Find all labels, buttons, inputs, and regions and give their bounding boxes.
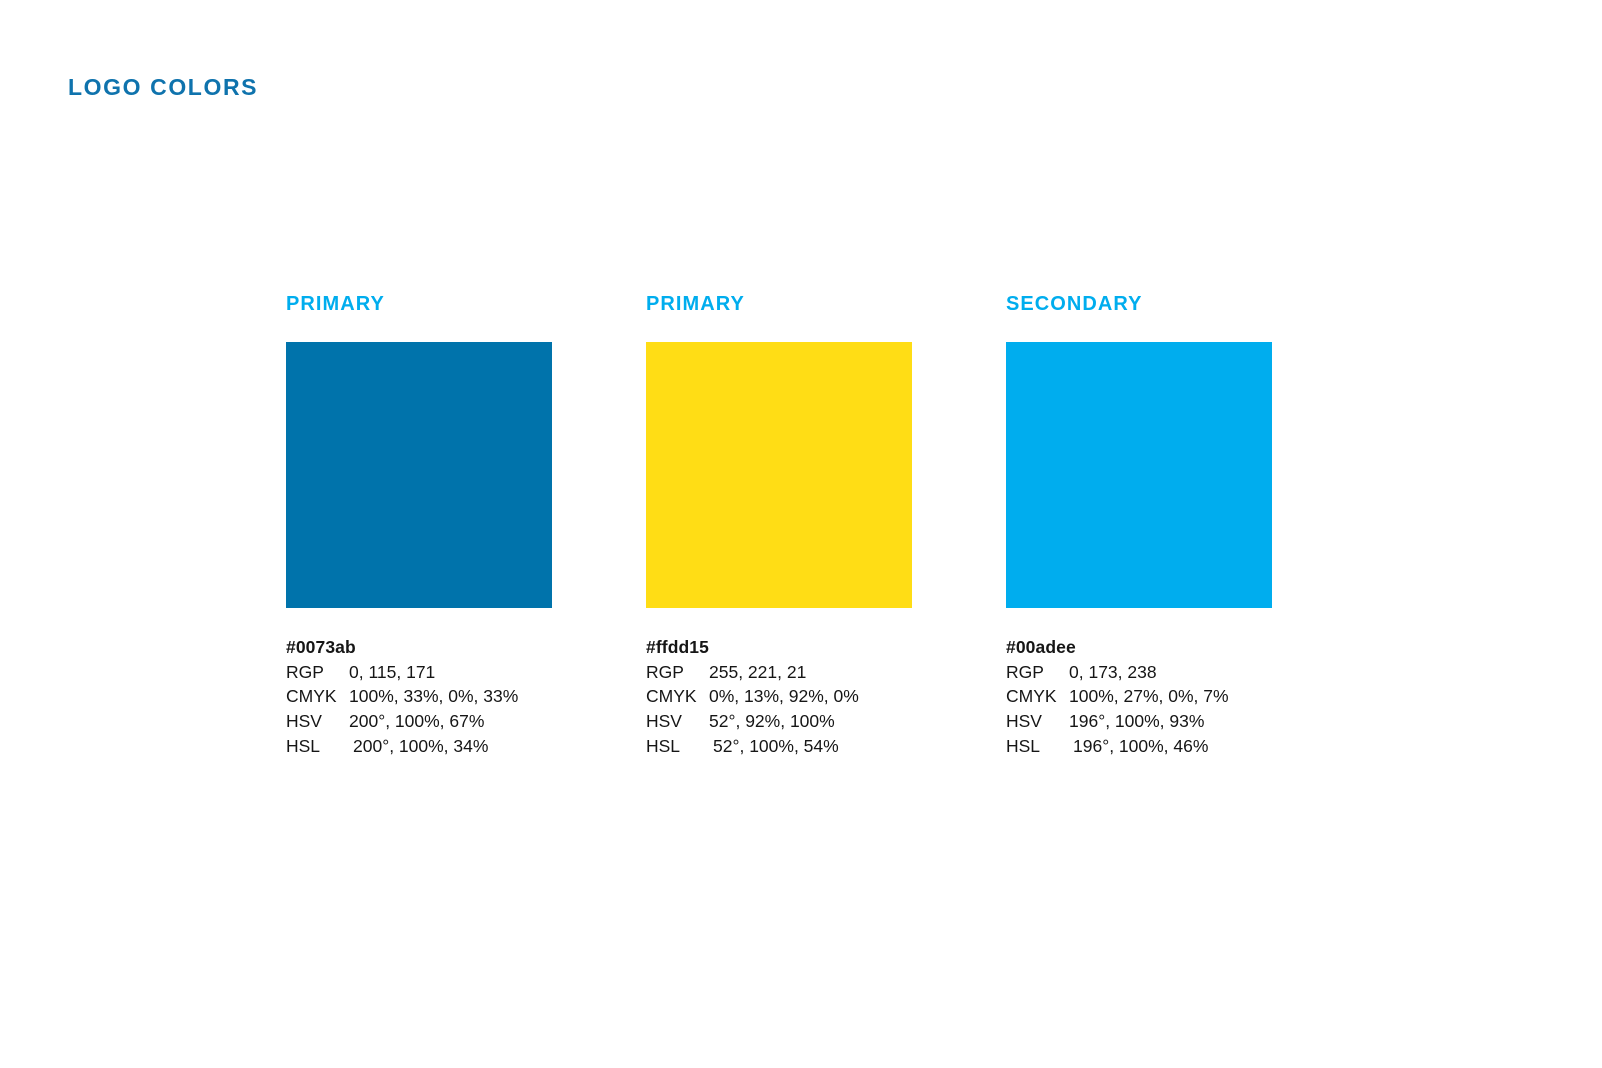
hex-value: #00adee [1006, 635, 1272, 660]
hsl-value: 196°, 100%, 46% [1069, 734, 1208, 759]
color-spec-list: #ffdd15 RGP 255, 221, 21 CMYK 0%, 13%, 9… [646, 635, 912, 759]
rgb-value: 255, 221, 21 [709, 660, 806, 685]
spec-row-cmyk: CMYK 100%, 33%, 0%, 33% [286, 684, 552, 709]
hsl-label: HSL [646, 734, 709, 759]
color-swatch-card: SECONDARY #00adee RGP 0, 173, 238 CMYK 1… [1006, 294, 1272, 759]
spec-row-hsl: HSL 200°, 100%, 34% [286, 734, 552, 759]
cmyk-label: CMYK [1006, 684, 1069, 709]
spec-row-hsv: HSV 196°, 100%, 93% [1006, 709, 1272, 734]
hex-value: #ffdd15 [646, 635, 912, 660]
color-spec-list: #0073ab RGP 0, 115, 171 CMYK 100%, 33%, … [286, 635, 552, 759]
color-chip-primary-blue [286, 342, 552, 608]
cmyk-value: 100%, 33%, 0%, 33% [349, 684, 518, 709]
spec-row-cmyk: CMYK 0%, 13%, 92%, 0% [646, 684, 912, 709]
color-chip-primary-yellow [646, 342, 912, 608]
spec-row-rgb: RGP 255, 221, 21 [646, 660, 912, 685]
cmyk-label: CMYK [646, 684, 709, 709]
hex-value: #0073ab [286, 635, 552, 660]
hsv-value: 196°, 100%, 93% [1069, 709, 1204, 734]
hsl-label: HSL [286, 734, 349, 759]
spec-row-hsv: HSV 52°, 92%, 100% [646, 709, 912, 734]
hsl-label: HSL [1006, 734, 1069, 759]
hsv-label: HSV [286, 709, 349, 734]
color-swatch-card: PRIMARY #ffdd15 RGP 255, 221, 21 CMYK 0%… [646, 294, 912, 759]
hsv-value: 52°, 92%, 100% [709, 709, 835, 734]
swatch-role-label: SECONDARY [1006, 294, 1272, 321]
spec-row-rgb: RGP 0, 115, 171 [286, 660, 552, 685]
hsl-value: 52°, 100%, 54% [709, 734, 839, 759]
color-swatch-card: PRIMARY #0073ab RGP 0, 115, 171 CMYK 100… [286, 294, 552, 759]
spec-row-rgb: RGP 0, 173, 238 [1006, 660, 1272, 685]
cmyk-value: 100%, 27%, 0%, 7% [1069, 684, 1229, 709]
rgb-value: 0, 115, 171 [349, 660, 435, 685]
rgb-label: RGP [646, 660, 709, 685]
swatch-role-label: PRIMARY [646, 294, 912, 321]
spec-row-hsv: HSV 200°, 100%, 67% [286, 709, 552, 734]
swatch-role-label: PRIMARY [286, 294, 552, 321]
page-title: LOGO COLORS [68, 74, 258, 101]
spec-row-cmyk: CMYK 100%, 27%, 0%, 7% [1006, 684, 1272, 709]
color-spec-list: #00adee RGP 0, 173, 238 CMYK 100%, 27%, … [1006, 635, 1272, 759]
rgb-label: RGP [286, 660, 349, 685]
hsl-value: 200°, 100%, 34% [349, 734, 488, 759]
rgb-value: 0, 173, 238 [1069, 660, 1157, 685]
spec-row-hsl: HSL 196°, 100%, 46% [1006, 734, 1272, 759]
cmyk-label: CMYK [286, 684, 349, 709]
color-chip-secondary-blue [1006, 342, 1272, 608]
spec-row-hsl: HSL 52°, 100%, 54% [646, 734, 912, 759]
rgb-label: RGP [1006, 660, 1069, 685]
cmyk-value: 0%, 13%, 92%, 0% [709, 684, 859, 709]
hsv-value: 200°, 100%, 67% [349, 709, 484, 734]
hsv-label: HSV [1006, 709, 1069, 734]
color-palette: PRIMARY #0073ab RGP 0, 115, 171 CMYK 100… [286, 294, 1296, 759]
hsv-label: HSV [646, 709, 709, 734]
